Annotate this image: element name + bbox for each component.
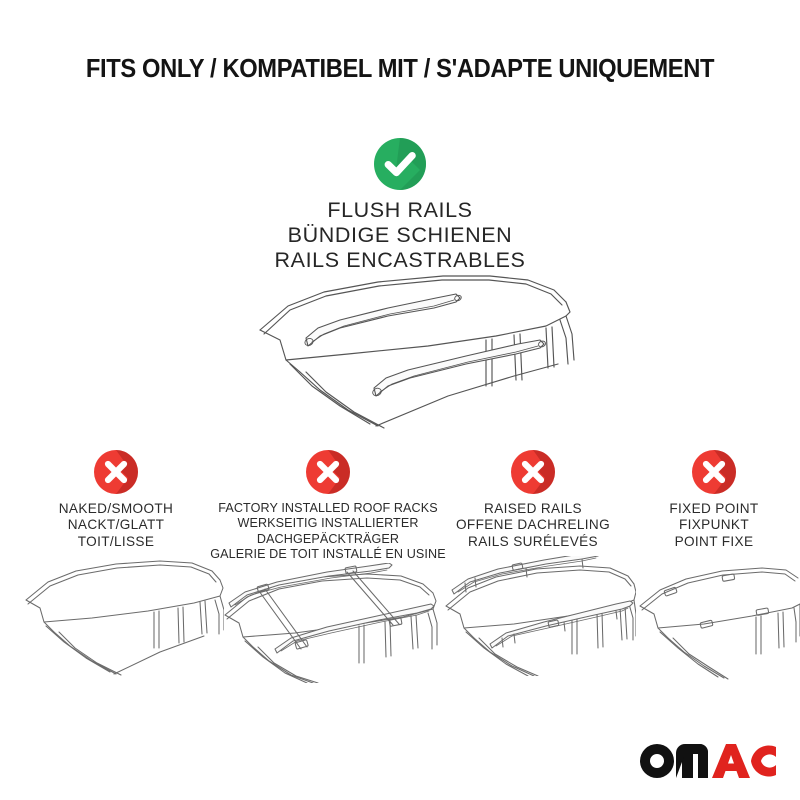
check-icon — [374, 138, 426, 190]
label-line-de-1: WERKSEITIG INSTALLIERTER — [203, 516, 453, 531]
incompatible-section-naked-smooth: NAKED/SMOOTH NACKT/GLATT TOIT/LISSE — [8, 450, 224, 676]
label-line-de: NACKT/GLATT — [8, 517, 224, 533]
incompatible-section-raised-rails: RAISED RAILS OFFENE DACHRELING RAILS SUR… — [430, 450, 636, 676]
compatible-label-de: BÜNDIGE SCHIENEN — [0, 223, 800, 248]
incompatible-labels: FACTORY INSTALLED ROOF RACKS WERKSEITIG … — [203, 501, 453, 562]
compatible-section: FLUSH RAILS BÜNDIGE SCHIENEN RAILS ENCAS… — [0, 138, 800, 273]
car-roof-naked-smooth-illustration — [8, 556, 224, 676]
car-roof-with-flush-rails-illustration — [228, 268, 588, 433]
label-line-fr: GALERIE DE TOIT INSTALLÉ EN USINE — [203, 547, 453, 562]
label-line-fr: TOIT/LISSE — [8, 534, 224, 550]
incompatible-section-fixed-point: FIXED POINT FIXPUNKT POINT FIXE — [628, 450, 800, 680]
label-line-de-2: DACHGEPÄCKTRÄGER — [203, 532, 453, 547]
omac-logo — [638, 742, 778, 782]
label-line-de: FIXPUNKT — [628, 517, 800, 533]
label-line-fr: POINT FIXE — [628, 534, 800, 550]
incompatible-labels: RAISED RAILS OFFENE DACHRELING RAILS SUR… — [430, 501, 636, 550]
incompatible-section-factory-roof-racks: FACTORY INSTALLED ROOF RACKS WERKSEITIG … — [203, 450, 453, 683]
cross-icon — [692, 450, 736, 494]
label-line-en: FIXED POINT — [628, 501, 800, 517]
car-roof-with-raised-rails-illustration — [430, 556, 636, 676]
compatible-label-en: FLUSH RAILS — [0, 198, 800, 223]
label-line-en: RAISED RAILS — [430, 501, 636, 517]
car-roof-fixed-point-illustration — [628, 560, 800, 680]
label-line-fr: RAILS SURÉLEVÉS — [430, 534, 636, 550]
incompatible-labels: FIXED POINT FIXPUNKT POINT FIXE — [628, 501, 800, 550]
cross-icon — [306, 450, 350, 494]
compatible-labels: FLUSH RAILS BÜNDIGE SCHIENEN RAILS ENCAS… — [0, 198, 800, 273]
label-line-en: NAKED/SMOOTH — [8, 501, 224, 517]
incompatible-labels: NAKED/SMOOTH NACKT/GLATT TOIT/LISSE — [8, 501, 224, 550]
cross-icon — [94, 450, 138, 494]
label-line-en: FACTORY INSTALLED ROOF RACKS — [203, 501, 453, 516]
label-line-de: OFFENE DACHRELING — [430, 517, 636, 533]
car-roof-with-factory-roof-racks-illustration — [203, 563, 453, 683]
incompatible-sections: NAKED/SMOOTH NACKT/GLATT TOIT/LISSE — [0, 450, 800, 700]
cross-icon — [511, 450, 555, 494]
page-title: FITS ONLY / KOMPATIBEL MIT / S'ADAPTE UN… — [28, 55, 772, 84]
